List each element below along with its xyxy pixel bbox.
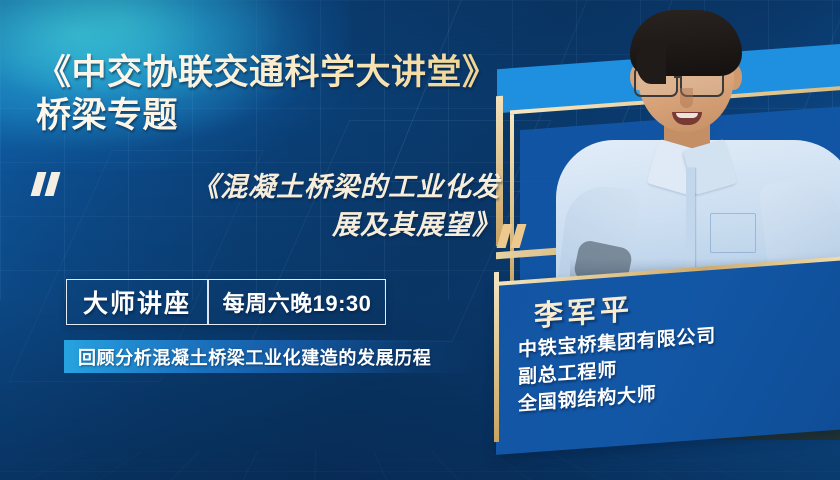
lecture-topic-text: 《混凝土桥梁的工业化发 展及其展望》 xyxy=(70,168,500,245)
schedule-label: 每周六晚19:30 xyxy=(209,286,386,318)
page-title: 《中交协联交通科学大讲堂》 桥梁专题 xyxy=(36,52,556,137)
quote-close-mark-icon-2 xyxy=(511,224,527,248)
lecture-topic-line2: 展及其展望》 xyxy=(70,206,500,244)
page-title-line1: 《中交协联交通科学大讲堂》 xyxy=(36,53,498,92)
poster-canvas: 《中交协联交通科学大讲堂》 桥梁专题 《混凝土桥梁的工业化发 展及其展望》 大师… xyxy=(0,0,840,480)
subtitle-text: 回顾分析混凝土桥梁工业化建造的发展历程 xyxy=(64,344,431,370)
speaker-shirt-pocket xyxy=(710,213,756,253)
quote-open-mark-icon-2 xyxy=(45,172,61,196)
series-label: 大师讲座 xyxy=(67,284,207,320)
speaker-panel-left-edge xyxy=(494,272,499,442)
speaker-nose xyxy=(680,88,693,108)
lecture-info-box: 大师讲座 每周六晚19:30 xyxy=(66,279,386,325)
speaker-info-content: 李军平 中铁宝桥集团有限公司 副总工程师 全国钢结构大师 xyxy=(534,271,834,418)
lecture-topic-line1: 《混凝土桥梁的工业化发 xyxy=(70,168,500,206)
lecture-topic-quote: 《混凝土桥梁的工业化发 展及其展望》 xyxy=(34,168,534,260)
page-title-line2: 桥梁专题 xyxy=(36,95,556,138)
subtitle-bar: 回顾分析混凝土桥梁工业化建造的发展历程 xyxy=(64,340,476,373)
speaker-hair xyxy=(630,10,742,76)
